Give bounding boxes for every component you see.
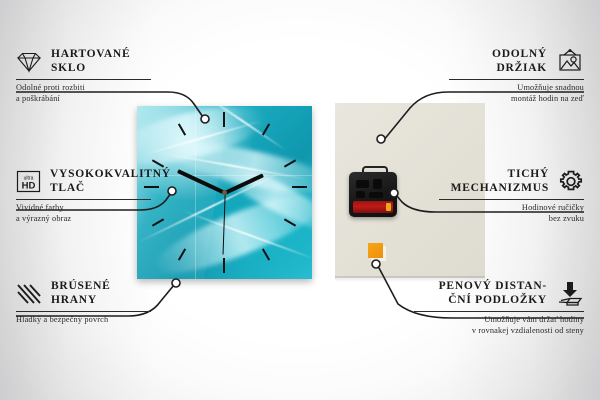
product-feature-infographic: HARTOVANÉ SKLO Odolné proti rozbiti a po… — [0, 0, 600, 400]
feature-silent-mechanism: TICHÝ MECHANIZMUS Hodinové ručičky bez z… — [439, 168, 584, 224]
clock-tick-12 — [223, 112, 225, 127]
picture-frame-icon — [556, 49, 584, 74]
feature-description: Hladký a bezpečný povrch — [16, 315, 151, 326]
hatch-lines-icon — [16, 283, 42, 305]
feature-title: TICHÝ MECHANIZMUS — [451, 168, 549, 195]
feature-divider — [449, 79, 584, 80]
connector-endpoint-dot — [172, 279, 180, 287]
feature-description: Vividné farby a výrazný obraz — [16, 203, 151, 224]
battery — [353, 201, 393, 213]
feature-ground-edges: BRÚSENÉ HRANY Hladký a bezpečný povrch — [16, 280, 151, 326]
clock-tick-3 — [292, 186, 307, 188]
feature-title: VYSOKOKVALITNÝ TLAČ — [50, 168, 171, 195]
movement-detail — [356, 191, 365, 198]
diamond-icon — [16, 51, 42, 73]
feature-divider — [439, 199, 584, 200]
feature-durable-hanger: ODOLNÝ DRŽIAK Umožňuje snadnou montáž ho… — [449, 48, 584, 104]
feature-header: ultra HD VYSOKOKVALITNÝ TLAČ — [16, 168, 151, 195]
feature-foam-spacers: PENOVÝ DISTAN- ČNÍ PODLOŽKY Umožňuje vám… — [414, 280, 584, 336]
clock-movement — [349, 172, 397, 217]
foam-spacer-pad — [368, 243, 383, 258]
clock-tick-1 — [262, 123, 270, 135]
ultra-hd-icon: ultra HD — [16, 170, 41, 193]
gear-icon — [558, 169, 584, 194]
feature-header: PENOVÝ DISTAN- ČNÍ PODLOŽKY — [414, 280, 584, 307]
feature-description: Umožňuje vám držať hodiny v rovnakej vzd… — [414, 315, 584, 336]
feature-divider — [414, 311, 584, 312]
feature-divider — [16, 79, 151, 80]
svg-text:HD: HD — [22, 181, 36, 192]
movement-detail — [373, 179, 382, 189]
feature-header: HARTOVANÉ SKLO — [16, 48, 151, 75]
movement-detail — [356, 180, 369, 188]
feature-title: BRÚSENÉ HRANY — [51, 280, 111, 307]
feature-title: ODOLNÝ DRŽIAK — [492, 48, 547, 75]
feature-tempered-glass: HARTOVANÉ SKLO Odolné proti rozbiti a po… — [16, 48, 151, 104]
clock-tick-5 — [262, 248, 270, 260]
feature-description: Umožňuje snadnou montáž hodin na zeď — [449, 83, 584, 104]
clock-tick-6 — [223, 258, 225, 273]
feature-header: TICHÝ MECHANIZMUS — [439, 168, 584, 195]
feature-description: Hodinové ručičky bez zvuku — [439, 203, 584, 224]
feature-divider — [16, 311, 151, 312]
press-down-pad-icon — [556, 281, 584, 307]
feature-title: PENOVÝ DISTAN- ČNÍ PODLOŽKY — [439, 280, 547, 307]
glass-seam — [195, 106, 196, 279]
feature-divider — [16, 199, 151, 200]
movement-detail — [369, 192, 383, 198]
feature-title: HARTOVANÉ SKLO — [51, 48, 130, 75]
clock-center-hub — [222, 190, 227, 195]
feature-header: BRÚSENÉ HRANY — [16, 280, 151, 307]
feature-description: Odolné proti rozbiti a poškrábání — [16, 83, 151, 104]
feature-header: ODOLNÝ DRŽIAK — [449, 48, 584, 75]
feature-high-quality-print: ultra HD VYSOKOKVALITNÝ TLAČ Vividné far… — [16, 168, 151, 224]
